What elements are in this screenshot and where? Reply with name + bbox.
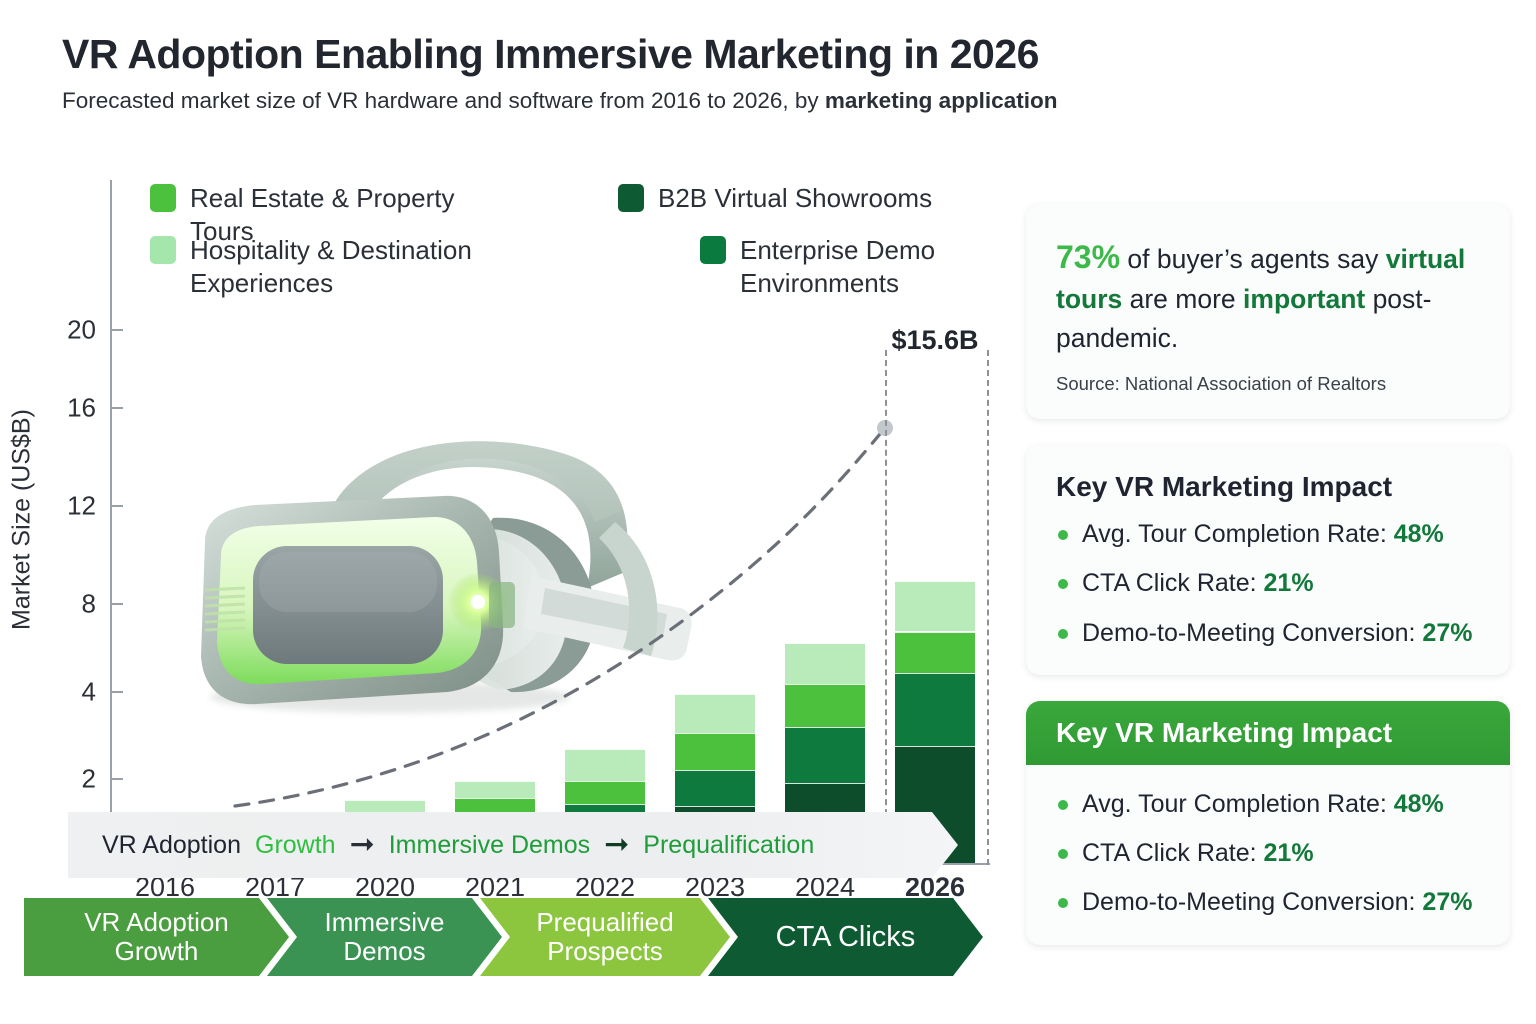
funnel-steps: VR AdoptionGrowthImmersiveDemosPrequalif…: [24, 898, 994, 976]
bar-2020[interactable]: [345, 180, 424, 863]
bar-2021[interactable]: [455, 180, 534, 863]
impact-card-highlighted: Key VR Marketing Impact Avg. Tour Comple…: [1026, 701, 1510, 945]
kpi-label: CTA Click Rate:: [1082, 569, 1264, 597]
funnel-step-1[interactable]: VR AdoptionGrowth: [24, 898, 289, 976]
stat-emphasis-2: important: [1243, 284, 1365, 314]
funnel-step-4[interactable]: CTA Clicks: [708, 898, 983, 976]
impact-card-2-title: Key VR Marketing Impact: [1026, 701, 1510, 765]
kpi-item: Avg. Tour Completion Rate: 48%: [1056, 519, 1480, 550]
flow-strip: VR Adoption Growth ➞ Immersive Demos ➞ P…: [68, 812, 958, 878]
impact-card-title: Key VR Marketing Impact: [1056, 471, 1480, 503]
bar-segment: [565, 749, 644, 782]
stat-card: 73% of buyer’s agents say virtual tours …: [1026, 204, 1510, 419]
bar-2023[interactable]: [675, 180, 754, 863]
kpi-value: 48%: [1394, 520, 1444, 548]
kpi-value: 48%: [1394, 790, 1444, 818]
stat-text-2: are more: [1122, 284, 1243, 314]
bar-2024[interactable]: [785, 180, 864, 863]
stat-percent: 73%: [1056, 239, 1120, 275]
y-tick: [110, 778, 123, 780]
flow-arrow-1-icon: ➞: [350, 830, 375, 860]
bar-2017[interactable]: [235, 180, 314, 863]
bar-2016[interactable]: [125, 180, 204, 863]
flow-step-2: Immersive Demos: [389, 831, 590, 860]
funnel-step-label: VR AdoptionGrowth: [74, 908, 239, 966]
y-axis-title: Market Size (US$B): [8, 270, 37, 770]
peak-value-label: $15.6B: [891, 325, 978, 356]
header: VR Adoption Enabling Immersive Marketing…: [62, 32, 1482, 114]
flow-arrow-2-icon: ➞: [604, 830, 629, 860]
kpi-item: Demo-to-Meeting Conversion: 27%: [1056, 887, 1480, 918]
stat-text-1: of buyer’s agents say: [1120, 244, 1386, 274]
bar-segment: [675, 733, 754, 770]
y-tick: [110, 603, 123, 605]
flow-step-1-accent: Growth: [255, 831, 336, 860]
legend-item[interactable]: B2B Virtual Showrooms: [618, 182, 932, 215]
funnel-step-label: ImmersiveDemos: [315, 908, 455, 966]
kpi-value: 21%: [1264, 569, 1314, 597]
y-tick-label: 2: [38, 764, 96, 795]
bar-2026[interactable]: [895, 180, 974, 863]
y-tick: [110, 329, 123, 331]
impact-card: Key VR Marketing Impact Avg. Tour Comple…: [1026, 445, 1510, 675]
impact-card-2-list: Avg. Tour Completion Rate: 48%CTA Click …: [1056, 789, 1480, 919]
kpi-value: 27%: [1422, 888, 1472, 916]
bar-segment: [785, 727, 864, 783]
kpi-label: Avg. Tour Completion Rate:: [1082, 790, 1394, 818]
page-title: VR Adoption Enabling Immersive Marketing…: [62, 32, 1482, 78]
kpi-value: 21%: [1264, 839, 1314, 867]
bar-segment: [785, 684, 864, 727]
kpi-label: CTA Click Rate:: [1082, 839, 1264, 867]
kpi-item: CTA Click Rate: 21%: [1056, 838, 1480, 869]
chart-panel: Market Size (US$B) 0248121620 Real Estat…: [0, 150, 1010, 790]
funnel-step-3[interactable]: PrequalifiedProspects: [480, 898, 730, 976]
y-axis-line: [110, 180, 112, 865]
flow-step-1-prefix: VR Adoption: [102, 831, 241, 860]
subtitle-text: Forecasted market size of VR hardware an…: [62, 88, 825, 113]
y-tick-label: 16: [38, 393, 96, 424]
bar-segment: [675, 694, 754, 733]
impact-card-list: Avg. Tour Completion Rate: 48%CTA Click …: [1056, 519, 1480, 649]
bar-segment: [895, 632, 974, 674]
kpi-item: CTA Click Rate: 21%: [1056, 568, 1480, 599]
flow-step-3: Prequalification: [643, 831, 814, 860]
peak-guide-right: [987, 350, 989, 865]
funnel-step-label: CTA Clicks: [766, 921, 926, 953]
kpi-label: Demo-to-Meeting Conversion:: [1082, 619, 1422, 647]
y-tick: [110, 407, 123, 409]
funnel-step-2[interactable]: ImmersiveDemos: [267, 898, 502, 976]
stat-card-text: 73% of buyer’s agents say virtual tours …: [1056, 234, 1480, 357]
bar-segment: [895, 581, 974, 632]
kpi-item: Avg. Tour Completion Rate: 48%: [1056, 789, 1480, 820]
bar-segment: [455, 781, 534, 798]
y-tick-label: 4: [38, 677, 96, 708]
kpi-item: Demo-to-Meeting Conversion: 27%: [1056, 618, 1480, 649]
y-tick-label: 8: [38, 589, 96, 620]
y-tick: [110, 691, 123, 693]
kpi-value: 27%: [1422, 619, 1472, 647]
bar-segment: [565, 781, 644, 804]
bar-segment: [675, 770, 754, 806]
stat-card-source: Source: National Association of Realtors: [1056, 373, 1480, 395]
page-subtitle: Forecasted market size of VR hardware an…: [62, 88, 1482, 114]
funnel-step-label: PrequalifiedProspects: [526, 908, 683, 966]
y-tick: [110, 505, 123, 507]
bar-segment: [785, 643, 864, 685]
right-column: 73% of buyer’s agents say virtual tours …: [1026, 204, 1510, 945]
bar-segment: [895, 673, 974, 746]
y-tick-label: 20: [38, 315, 96, 346]
subtitle-emphasis: marketing application: [825, 88, 1058, 113]
bar-2022[interactable]: [565, 180, 644, 863]
kpi-label: Avg. Tour Completion Rate:: [1082, 520, 1394, 548]
peak-guide-left: [885, 350, 887, 865]
y-tick-label: 12: [38, 491, 96, 522]
kpi-label: Demo-to-Meeting Conversion:: [1082, 888, 1422, 916]
